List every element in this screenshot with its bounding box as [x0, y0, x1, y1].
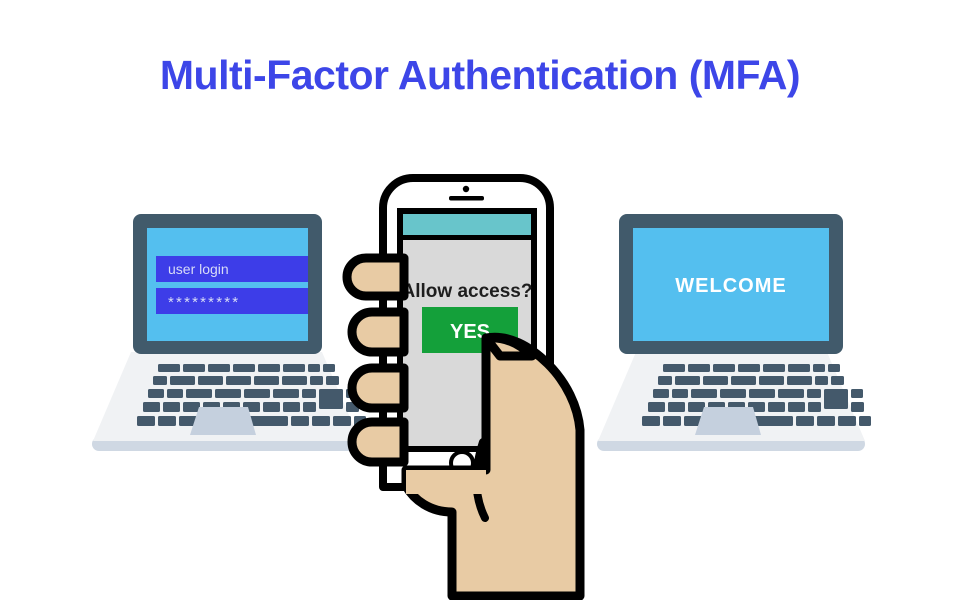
welcome-laptop: WELCOME [597, 214, 871, 451]
palm-lower-edge [406, 470, 486, 494]
password-field[interactable]: ********* [156, 288, 308, 314]
laptop-left-trackpad[interactable] [190, 407, 256, 435]
phone-status-bar [403, 214, 531, 235]
earpiece-speaker-icon [449, 196, 484, 201]
username-field-value: user login [168, 261, 229, 277]
login-laptop: user login ********* [92, 214, 366, 451]
welcome-message: WELCOME [675, 275, 786, 297]
index-finger [347, 258, 404, 296]
password-field-value: ********* [168, 294, 240, 311]
laptop-right-trackpad[interactable] [695, 407, 761, 435]
mfa-illustration: user login ********* [0, 0, 960, 600]
illustration-canvas: Multi-Factor Authentication (MFA) user l… [0, 0, 960, 600]
username-field[interactable]: user login [156, 256, 308, 282]
front-camera-icon [463, 186, 469, 192]
ring-finger [352, 368, 404, 408]
allow-access-prompt: Allow access? [402, 281, 533, 302]
middle-finger [352, 312, 404, 352]
laptop-left-screen [147, 228, 308, 341]
phone-status-bar-divider [400, 235, 534, 240]
little-finger [352, 422, 404, 462]
